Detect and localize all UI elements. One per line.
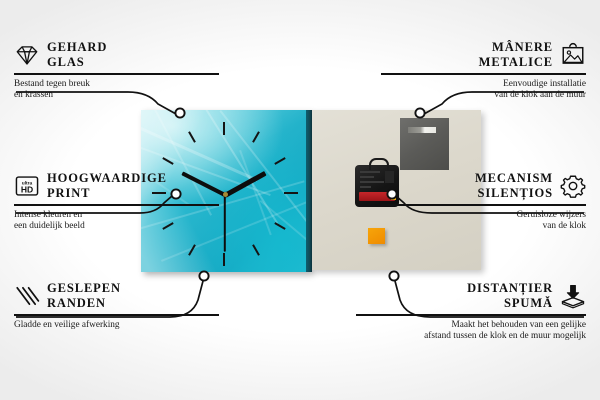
feature-title: GESLEPEN: [47, 281, 121, 296]
feature-title-line2: PRINT: [47, 186, 167, 201]
feature-subtitle: Geruisloze wijzers: [381, 210, 586, 222]
feature-subtitle-line2: een duidelijk beeld: [14, 221, 219, 233]
metal-hanger-plate: [400, 118, 449, 170]
feature-title-line2: SPUMĂ: [467, 296, 553, 311]
feature-title-line2: SILENȚIOS: [475, 186, 553, 201]
hour-marker: [274, 157, 285, 165]
hour-marker: [252, 131, 260, 142]
feature-geslepen-randen: GESLEPEN RANDEN Gladde en veilige afwerk…: [14, 281, 219, 331]
hand-pivot: [223, 192, 228, 197]
ultra-hd-icon: ultra HD: [14, 173, 40, 199]
feature-hoogwaardige-print: ultra HD HOOGWAARDIGE PRINT Intense kleu…: [14, 171, 219, 233]
feature-title-line2: METALICE: [479, 55, 553, 70]
feature-subtitle-line2: afstand tussen de klok en de muur mogeli…: [356, 331, 586, 343]
connector-node-geslepen-randen: [199, 271, 208, 280]
divider: [14, 204, 219, 206]
divider: [14, 73, 219, 75]
diagonal-lines-icon: [14, 283, 40, 309]
layers-down-arrow-icon: [560, 283, 586, 309]
hour-marker: [188, 131, 196, 142]
feature-title: HOOGWAARDIGE: [47, 171, 167, 186]
feature-title-line2: RANDEN: [47, 296, 121, 311]
feature-title-line2: GLAS: [47, 55, 107, 70]
hour-marker: [252, 244, 260, 255]
feature-gehard-glas: GEHARD GLAS Bestand tegen breuk en krass…: [14, 40, 219, 102]
hour-marker: [284, 192, 298, 194]
hour-marker: [223, 253, 225, 266]
feature-mecanism-silentios: MECANISM SILENȚIOS Geruisloze wijzers va…: [381, 171, 586, 233]
feature-subtitle: Eenvoudige installatie: [381, 79, 586, 91]
picture-frame-icon: [560, 42, 586, 68]
connector-node-distantier-spuma: [389, 271, 398, 280]
second-hand: [224, 194, 226, 252]
hanger-slot: [408, 127, 436, 133]
feature-subtitle: Intense kleuren en: [14, 210, 219, 222]
svg-text:HD: HD: [21, 185, 33, 195]
feature-title: DISTANȚIER: [467, 281, 553, 296]
feature-manere-metalice: MÂNERE METALICE Eenvoudige installatie v…: [381, 40, 586, 102]
divider: [356, 314, 586, 316]
feature-distantier-spuma: DISTANȚIER SPUMĂ Maakt het behouden van …: [356, 281, 586, 343]
feature-subtitle-line2: van de klok: [381, 221, 586, 233]
feature-subtitle-line2: en krassen: [14, 90, 219, 102]
feature-title: GEHARD: [47, 40, 107, 55]
diamond-icon: [14, 42, 40, 68]
feature-subtitle-line2: van de klok aan de muur: [381, 90, 586, 102]
divider: [381, 73, 586, 75]
hour-marker: [188, 244, 196, 255]
feature-subtitle: Maakt het behouden van een gelijke: [356, 320, 586, 332]
feature-subtitle: Bestand tegen breuk: [14, 79, 219, 91]
hour-marker: [223, 122, 225, 135]
hour-marker: [274, 222, 285, 230]
infographic-canvas: GEHARD GLAS Bestand tegen breuk en krass…: [0, 0, 600, 400]
divider: [381, 204, 586, 206]
feature-subtitle: Gladde en veilige afwerking: [14, 320, 219, 332]
feature-title: MÂNERE: [479, 40, 553, 55]
feature-title: MECANISM: [475, 171, 553, 186]
hanging-loop: [369, 158, 389, 170]
gear-icon: [560, 173, 586, 199]
divider: [14, 314, 219, 316]
